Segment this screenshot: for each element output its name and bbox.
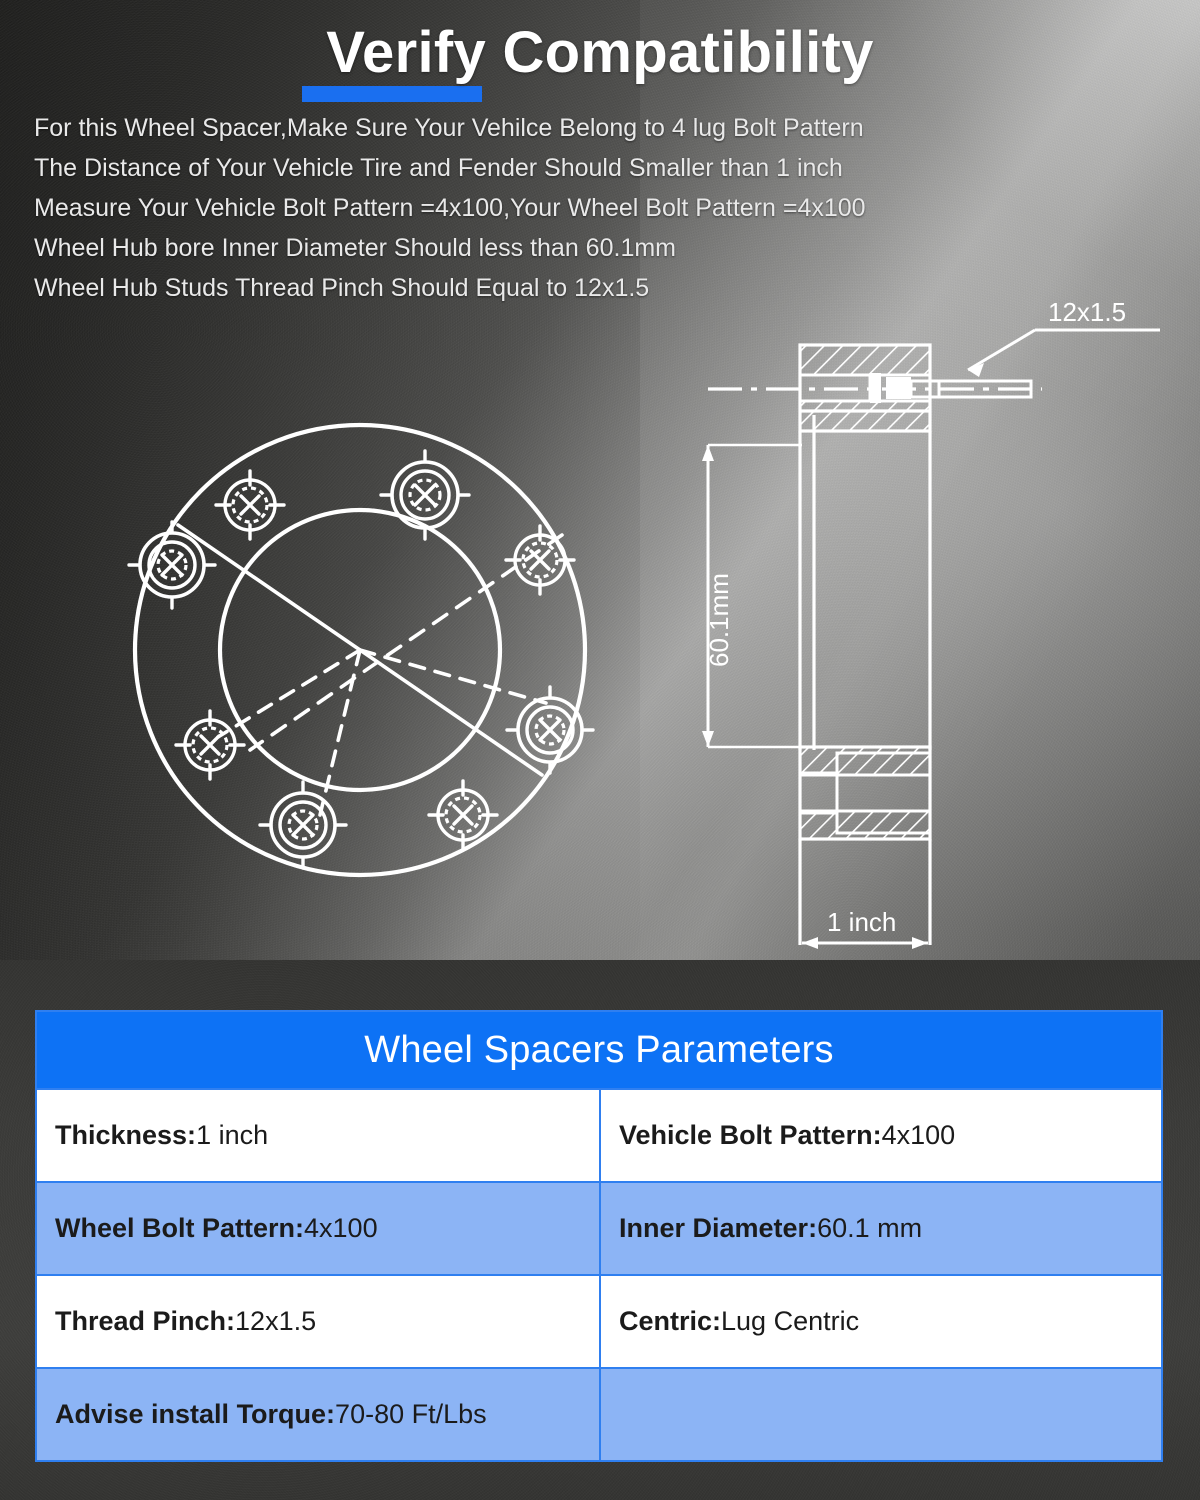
table-cell: Thickness: 1 inch <box>37 1090 599 1181</box>
bolt-hole <box>216 471 284 539</box>
wheel-spacers-parameters-table: Wheel Spacers Parameters Thickness: 1 in… <box>35 1010 1163 1462</box>
cell-value: 70-80 Ft/Lbs <box>335 1399 487 1430</box>
cell-value: 4x100 <box>304 1213 378 1244</box>
bullet-item: For this Wheel Spacer,Make Sure Your Veh… <box>34 108 964 148</box>
bolt-circle-axis-dashed-3 <box>218 650 360 737</box>
cell-key: Centric: <box>619 1306 721 1337</box>
cell-value: Lug Centric <box>721 1306 859 1337</box>
spacer-body-outline <box>800 411 930 750</box>
cell-value: 4x100 <box>882 1120 956 1151</box>
table-title: Wheel Spacers Parameters <box>37 1012 1161 1088</box>
cell-key: Advise install Torque: <box>55 1399 335 1430</box>
table-cell-empty <box>599 1369 1161 1460</box>
bolt-hole <box>429 781 497 849</box>
bullet-item: Wheel Hub bore Inner Diameter Should les… <box>34 228 964 268</box>
bolt-hole <box>260 782 346 868</box>
compatibility-bullet-list: For this Wheel Spacer,Make Sure Your Veh… <box>34 108 964 308</box>
table-row: Advise install Torque: 70-80 Ft/Lbs <box>37 1367 1161 1460</box>
title-container: Verify Compatibility <box>0 24 1200 82</box>
wheel-spacer-cross-section-diagram: 12x1.5 60.1mm <box>690 295 1190 955</box>
cell-key: Vehicle Bolt Pattern: <box>619 1120 882 1151</box>
inner-diameter-label: 60.1mm <box>704 573 734 667</box>
thickness-dimension <box>802 937 928 949</box>
table-row: Thickness: 1 inch Vehicle Bolt Pattern: … <box>37 1088 1161 1181</box>
cell-key: Wheel Bolt Pattern: <box>55 1213 304 1244</box>
table-cell: Inner Diameter: 60.1 mm <box>599 1183 1161 1274</box>
thread-callout-label: 12x1.5 <box>1048 297 1126 327</box>
cell-value: 1 inch <box>196 1120 268 1151</box>
cell-value: 12x1.5 <box>235 1306 316 1337</box>
table-cell: Centric: Lug Centric <box>599 1276 1161 1367</box>
thickness-label: 1 inch <box>827 907 896 937</box>
front-view-svg <box>110 415 630 915</box>
table-cell: Advise install Torque: 70-80 Ft/Lbs <box>37 1369 599 1460</box>
table-cell: Vehicle Bolt Pattern: 4x100 <box>599 1090 1161 1181</box>
bullet-item: The Distance of Your Vehicle Tire and Fe… <box>34 148 964 188</box>
bolt-circle-axis-dashed-2 <box>360 650 546 703</box>
side-view-svg: 12x1.5 60.1mm <box>690 295 1190 955</box>
page-title: Verify Compatibility <box>326 24 873 82</box>
table-cell: Wheel Bolt Pattern: 4x100 <box>37 1183 599 1274</box>
cell-value: 60.1 mm <box>817 1213 922 1244</box>
cell-key: Thickness: <box>55 1120 196 1151</box>
bullet-item: Measure Your Vehicle Bolt Pattern =4x100… <box>34 188 964 228</box>
table-row: Thread Pinch: 12x1.5 Centric: Lug Centri… <box>37 1274 1161 1367</box>
table-cell: Thread Pinch: 12x1.5 <box>37 1276 599 1367</box>
cell-key: Inner Diameter: <box>619 1213 817 1244</box>
cell-key: Thread Pinch: <box>55 1306 235 1337</box>
lower-flange-section <box>800 747 930 839</box>
bolt-hole <box>176 711 244 779</box>
thread-callout-leader <box>968 330 1160 377</box>
wheel-spacer-front-view-diagram <box>110 415 630 915</box>
bolt-hole <box>506 526 574 594</box>
title-highlight-bar <box>302 86 482 102</box>
table-row: Wheel Bolt Pattern: 4x100 Inner Diameter… <box>37 1181 1161 1274</box>
